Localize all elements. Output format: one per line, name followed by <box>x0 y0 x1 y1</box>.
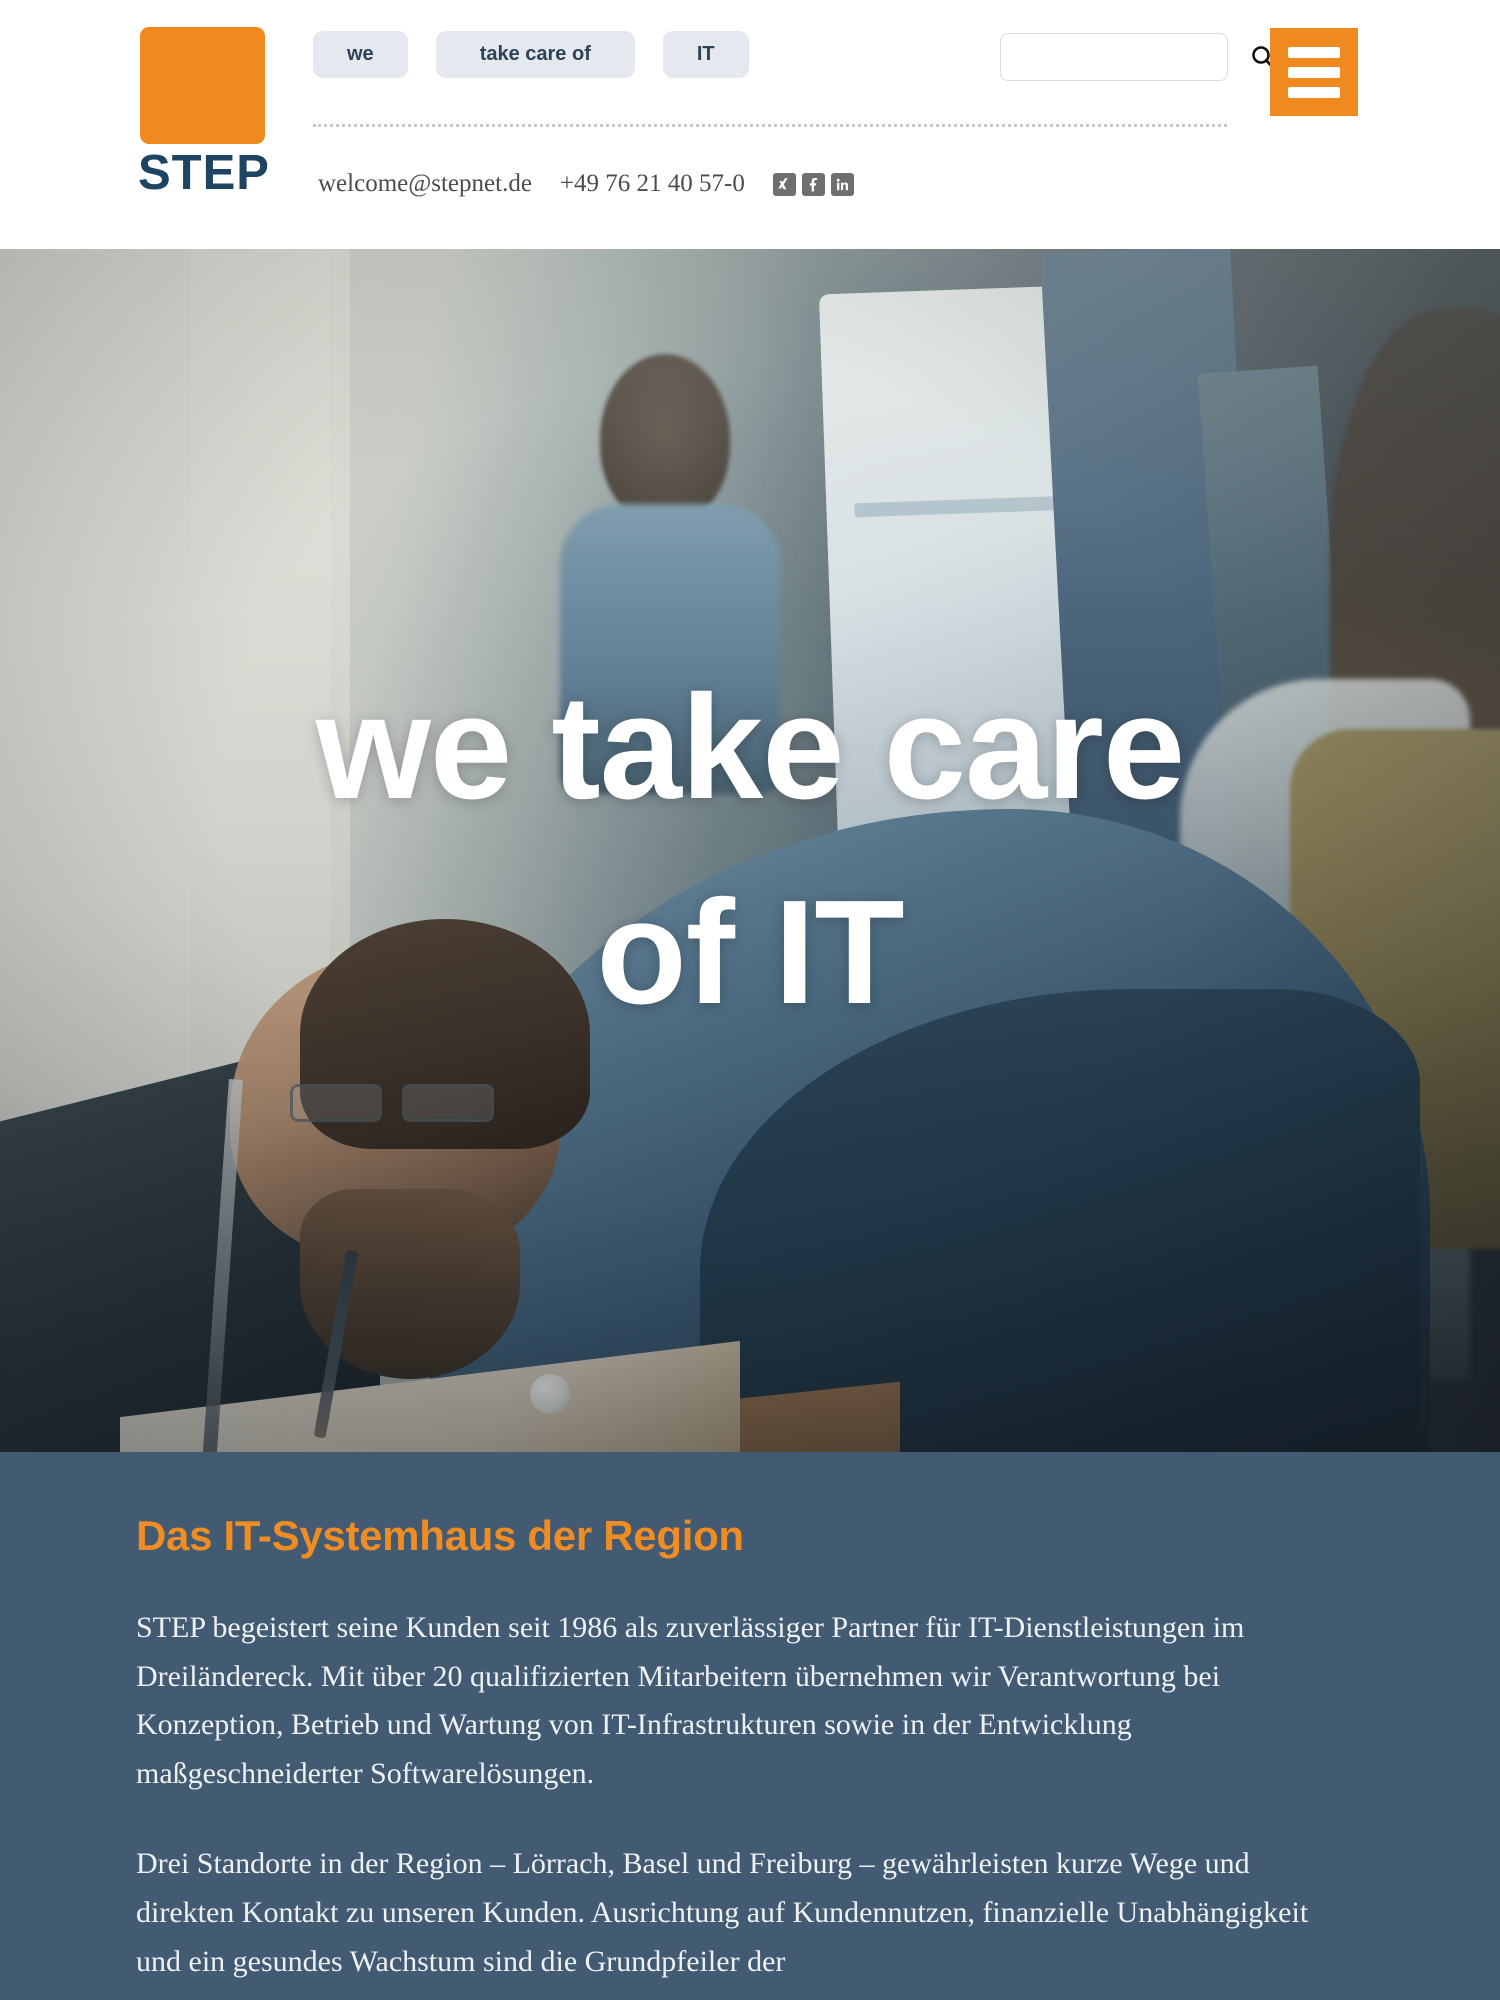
hamburger-icon-bar <box>1288 67 1340 78</box>
linkedin-glyph <box>835 177 850 192</box>
nav-item-we[interactable]: we <box>313 31 408 78</box>
intro-section: Das IT-Systemhaus der Region STEP begeis… <box>0 1452 1500 2000</box>
nav-item-it[interactable]: IT <box>663 31 749 78</box>
site-logo[interactable]: STEP <box>140 27 270 192</box>
logo-wordmark: STEP <box>138 149 270 198</box>
hamburger-icon-bar <box>1288 87 1340 98</box>
intro-paragraph-1: STEP begeistert seine Kunden seit 1986 a… <box>136 1604 1346 1798</box>
search-input[interactable] <box>1001 34 1250 80</box>
search-box <box>1000 33 1228 81</box>
hero-banner: we take care of IT <box>0 249 1500 1452</box>
linkedin-icon[interactable] <box>831 173 854 196</box>
header-divider <box>313 124 1227 127</box>
facebook-glyph <box>806 177 821 192</box>
hero-background-image <box>0 249 1500 1452</box>
nav-item-take-care-of[interactable]: take care of <box>436 31 635 78</box>
menu-toggle-button[interactable] <box>1270 28 1358 116</box>
xing-glyph <box>777 177 792 192</box>
email-link[interactable]: welcome@stepnet.de <box>318 170 532 198</box>
site-header: STEP we take care of IT welcome@stepnet.… <box>0 0 1500 249</box>
hamburger-icon-bar <box>1288 47 1340 58</box>
page-root: STEP we take care of IT welcome@stepnet.… <box>0 0 1500 2000</box>
facebook-icon[interactable] <box>802 173 825 196</box>
phone-link[interactable]: +49 76 21 40 57-0 <box>560 170 745 198</box>
intro-heading: Das IT-Systemhaus der Region <box>136 1512 1386 1560</box>
primary-nav: we take care of IT <box>313 31 749 78</box>
contact-bar: welcome@stepnet.de +49 76 21 40 57-0 <box>318 170 854 198</box>
social-links <box>773 173 854 196</box>
intro-paragraph-2: Drei Standorte in der Region – Lörrach, … <box>136 1840 1346 1986</box>
xing-icon[interactable] <box>773 173 796 196</box>
intro-content: Das IT-Systemhaus der Region STEP begeis… <box>136 1452 1386 1986</box>
